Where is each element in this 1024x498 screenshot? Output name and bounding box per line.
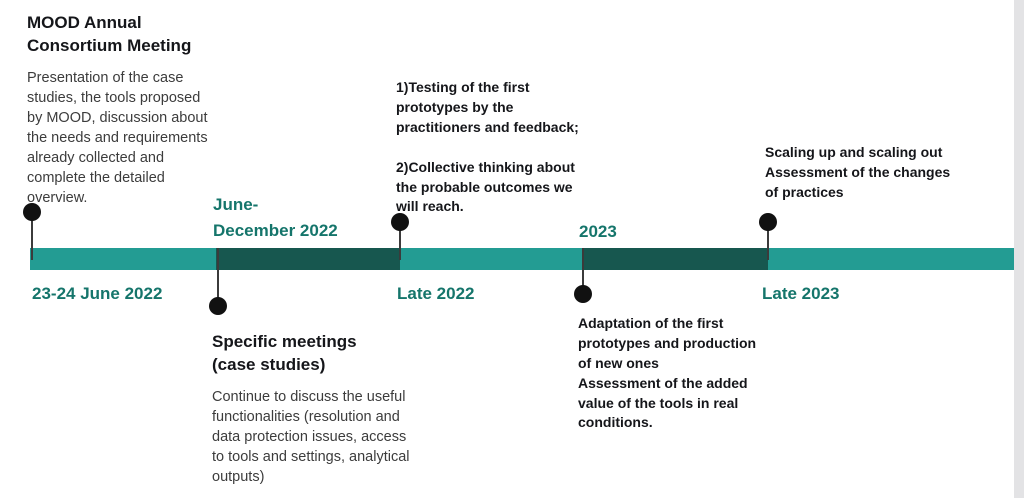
timeline-segment-3 (400, 248, 583, 270)
mood-meeting-body: Presentation of the case studies, the to… (27, 68, 227, 208)
date-label-23-24-june-2022: 23-24 June 2022 (32, 281, 252, 307)
timeline-infographic: MOOD Annual Consortium Meeting Presentat… (0, 0, 1024, 498)
late-2022-note-item-2: 2)Collective thinking about the probable… (396, 158, 596, 218)
date-label-2023: 2023 (579, 219, 699, 245)
specific-meetings-body: Continue to discuss the useful functiona… (212, 387, 437, 487)
date-label-june-december-2022: June- December 2022 (213, 192, 393, 243)
timeline-segment-5 (768, 248, 1014, 270)
block-2023-notes: Adaptation of the first prototypes and p… (578, 314, 778, 433)
marker-dot-icon (574, 285, 592, 303)
page-right-edge (1014, 0, 1024, 498)
timeline-segment-2 (216, 248, 400, 270)
block-mood-annual-consortium-meeting: MOOD Annual Consortium Meeting Presentat… (27, 12, 227, 208)
mood-meeting-title: MOOD Annual Consortium Meeting (27, 12, 227, 58)
date-label-late-2022: Late 2022 (397, 281, 557, 307)
block-late-2022-notes: 1)Testing of the first prototypes by the… (396, 78, 596, 217)
date-label-late-2023: Late 2023 (762, 281, 922, 307)
specific-meetings-title: Specific meetings (case studies) (212, 331, 437, 377)
late-2023-note-body: Scaling up and scaling out Assessment of… (765, 143, 980, 203)
late-2022-note-item-1: 1)Testing of the first prototypes by the… (396, 78, 596, 138)
marker-dot-icon (23, 203, 41, 221)
block-late-2023-notes: Scaling up and scaling out Assessment of… (765, 143, 980, 203)
marker-dot-icon (759, 213, 777, 231)
y2023-note-body: Adaptation of the first prototypes and p… (578, 314, 778, 433)
timeline-segment-1 (30, 248, 216, 270)
block-specific-meetings: Specific meetings (case studies) Continu… (212, 331, 437, 487)
timeline-bar (30, 248, 1014, 270)
timeline-segment-4 (583, 248, 768, 270)
marker-dot-icon (391, 213, 409, 231)
